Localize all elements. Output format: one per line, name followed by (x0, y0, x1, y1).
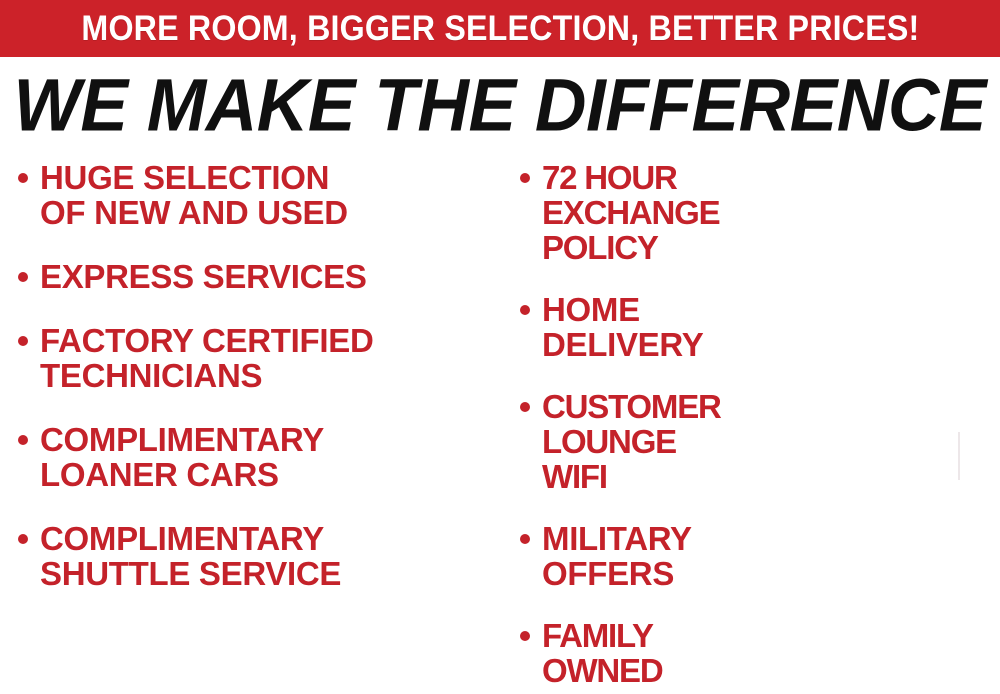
scan-artifact (958, 432, 960, 480)
list-item-label: CUSTOMER LOUNGE WIFI (542, 389, 721, 494)
list-item-label: 72 HOUR EXCHANGE POLICY (542, 160, 719, 265)
main-headline-text: WE MAKE THE DIFFERENCE (14, 68, 987, 142)
list-item-label: HOME DELIVERY (542, 292, 703, 362)
bullet-dot-icon (520, 173, 530, 183)
benefits-column-right: 72 HOUR EXCHANGE POLICY HOME DELIVERY CU… (0, 160, 526, 694)
bullet-dot-icon (520, 305, 530, 315)
list-item-label: FAMILY OWNED AND OPERATED (542, 618, 713, 694)
main-headline: WE MAKE THE DIFFERENCE (0, 68, 1000, 138)
bullet-dot-icon (520, 402, 530, 412)
list-item-label: MILITARY OFFERS (542, 521, 691, 591)
advertisement-poster: MORE ROOM, BIGGER SELECTION, BETTER PRIC… (0, 0, 1000, 694)
bullet-dot-icon (520, 534, 530, 544)
banner-headline-text: MORE ROOM, BIGGER SELECTION, BETTER PRIC… (81, 11, 919, 46)
bullet-dot-icon (520, 631, 530, 641)
top-banner: MORE ROOM, BIGGER SELECTION, BETTER PRIC… (0, 0, 1000, 57)
benefits-columns: HUGE SELECTION OF NEW AND USED EXPRESS S… (0, 160, 1000, 694)
